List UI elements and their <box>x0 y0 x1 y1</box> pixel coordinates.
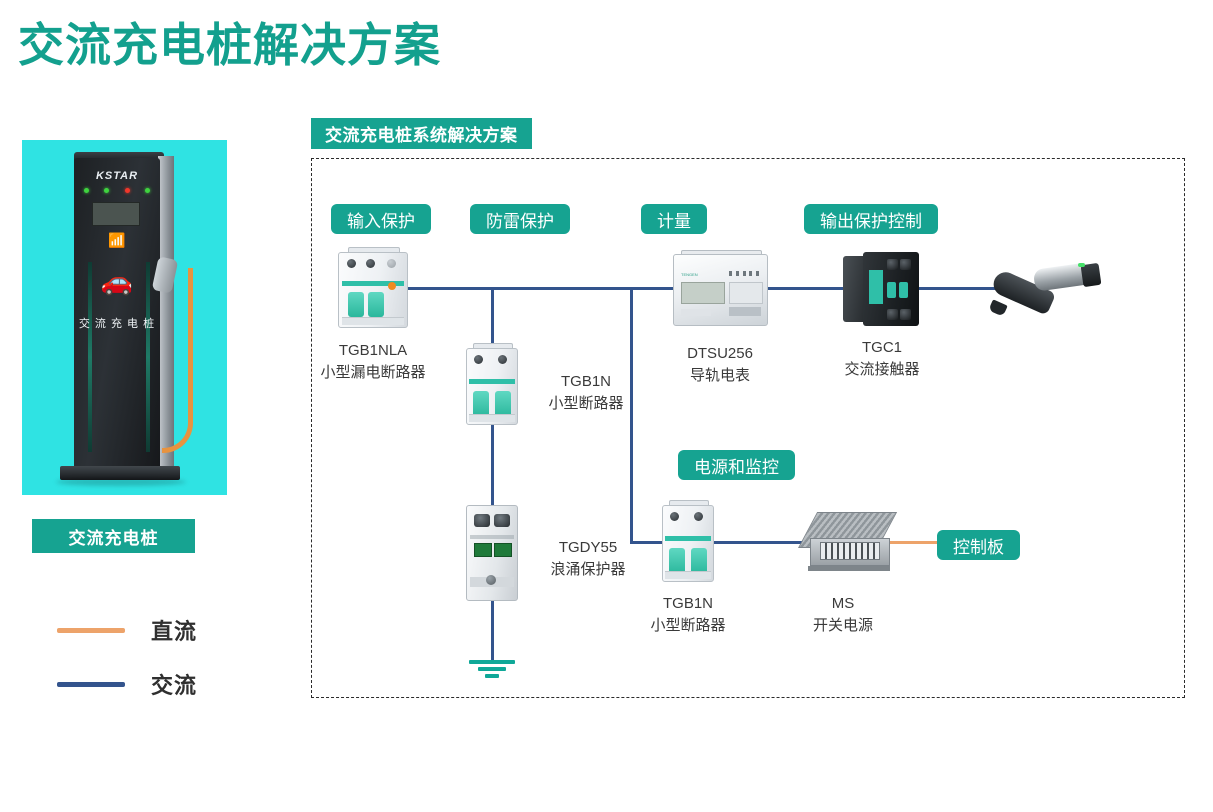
led-red <box>125 188 130 193</box>
spd-brand-strip <box>470 535 514 539</box>
wire-bus-to-mcb-upper <box>491 287 494 347</box>
wire-bus-to-lower-branch <box>630 287 633 542</box>
label-psu: MS 开关电源 <box>787 593 899 637</box>
label-mcb-upper: TGB1N 小型断路器 <box>531 371 641 415</box>
device-mcb-lower-tgb1n <box>662 505 714 582</box>
label-contactor-model: TGC1 <box>826 337 938 359</box>
legend-item-dc: 直流 <box>57 614 197 646</box>
ground-symbol-icon <box>468 660 516 682</box>
pill-metering: 计量 <box>641 204 707 234</box>
gun-status-led <box>1078 263 1085 267</box>
mcb-upper-teal-band <box>469 379 515 384</box>
rcbo-terminal-screw-1 <box>347 259 356 268</box>
meter-lcd-display <box>681 282 725 304</box>
wire-rcbo-to-meter <box>406 287 674 290</box>
led-green-2 <box>104 188 109 193</box>
label-rcbo-desc: 小型漏电断路器 <box>309 362 437 384</box>
mcb-lower-bottom-terminals <box>665 571 711 579</box>
device-psu-ms <box>798 512 890 574</box>
rfid-icon: 📶 <box>74 232 160 249</box>
pile-display-screen <box>92 202 140 226</box>
label-mcb-lower: TGB1N 小型断路器 <box>632 593 744 637</box>
ground-bar-2 <box>478 667 506 671</box>
meter-led-3 <box>743 271 746 276</box>
pill-output-protection: 输出保护控制 <box>804 204 938 234</box>
label-meter-model: DTSU256 <box>664 343 776 365</box>
psu-base-plate <box>808 566 890 571</box>
mcb-upper-terminal-screw-2 <box>498 355 507 364</box>
charging-gun-icon <box>990 258 1100 324</box>
rcbo-bottom-terminals <box>342 317 404 325</box>
device-contactor-tgc1 <box>843 252 919 326</box>
spd-cartridge-2 <box>494 514 510 527</box>
wire-spd-to-ground <box>491 600 494 662</box>
pill-input-protection: 输入保护 <box>331 204 431 234</box>
meter-led-5 <box>756 271 759 276</box>
gun-tip <box>988 299 1007 316</box>
label-spd: TGDY55 浪涌保护器 <box>532 537 644 581</box>
device-meter-dtsu256: TENGEN <box>673 254 768 326</box>
spd-screw <box>486 575 496 585</box>
ev-car-plug-icon: 🚗 <box>82 268 152 294</box>
pile-status-leds <box>84 188 150 193</box>
page-title: 交流充电桩解决方案 <box>18 18 441 73</box>
meter-spec-table <box>729 282 763 304</box>
pile-shadow <box>56 478 186 486</box>
pill-power-monitoring: 电源和监控 <box>678 450 795 480</box>
contactor-terminal-b2 <box>900 309 911 320</box>
meter-led-2 <box>736 271 739 276</box>
contactor-terminal-t2 <box>900 259 911 270</box>
wire-mcb-upper-to-spd <box>491 425 494 507</box>
label-mcb-lower-model: TGB1N <box>632 593 744 615</box>
section-header-badge: 交流充电桩系统解决方案 <box>311 118 532 149</box>
device-rcbo-tgb1nla <box>338 252 408 328</box>
spd-status-window-2 <box>494 543 512 557</box>
legend-label-ac: 交流 <box>151 668 197 700</box>
rcbo-test-screw <box>387 259 396 268</box>
meter-led-4 <box>749 271 752 276</box>
ground-bar-1 <box>469 660 515 664</box>
rcbo-lever-2 <box>368 292 384 318</box>
spd-cartridge-1 <box>474 514 490 527</box>
meter-label-strip <box>681 309 711 316</box>
legend-item-ac: 交流 <box>57 668 197 700</box>
diagram-frame <box>311 158 1185 698</box>
label-contactor-desc: 交流接触器 <box>826 359 938 381</box>
meter-brand-label: TENGEN <box>681 272 698 277</box>
product-caption: 交流充电桩 <box>32 519 195 553</box>
label-rcbo-model: TGB1NLA <box>309 340 437 362</box>
psu-terminal-block <box>820 542 880 560</box>
label-mcb-lower-desc: 小型断路器 <box>632 615 744 637</box>
wire-psu-to-control-board <box>884 541 942 544</box>
rcbo-terminal-screw-2 <box>366 259 375 268</box>
contactor-teal-label <box>869 270 883 304</box>
mcb-lower-terminal-screw-2 <box>694 512 703 521</box>
meter-terminal-block <box>729 307 761 316</box>
legend-swatch-dc-icon <box>57 628 125 633</box>
label-spd-model: TGDY55 <box>532 537 644 559</box>
wire-mcb-lower-to-psu <box>712 541 804 544</box>
label-meter: DTSU256 导轨电表 <box>664 343 776 387</box>
pile-vertical-text: 交 流 充 电 桩 <box>74 316 160 333</box>
label-spd-desc: 浪涌保护器 <box>532 559 644 581</box>
spd-status-window-1 <box>474 543 492 557</box>
meter-led-1 <box>729 271 732 276</box>
ground-bar-3 <box>485 674 499 678</box>
mcb-lower-teal-band <box>665 536 711 541</box>
contactor-indicator-2 <box>899 282 908 298</box>
wire-meter-to-contactor <box>762 287 854 290</box>
label-contactor: TGC1 交流接触器 <box>826 337 938 381</box>
meter-indicator-leds <box>729 271 759 276</box>
contactor-terminal-t1 <box>887 259 898 270</box>
label-psu-model: MS <box>787 593 899 615</box>
label-meter-desc: 导轨电表 <box>664 365 776 387</box>
rcbo-lever-1 <box>348 292 364 318</box>
device-spd-tgdy55 <box>466 505 518 601</box>
wire-contactor-to-gun <box>908 287 1000 290</box>
pile-brand-label: KSTAR <box>74 170 160 182</box>
mcb-upper-bottom-terminals <box>469 414 515 422</box>
product-photo: KSTAR 📶 🚗 交 流 充 电 桩 <box>22 140 227 495</box>
mcb-lower-terminal-screw-1 <box>670 512 679 521</box>
led-green-1 <box>84 188 89 193</box>
legend-label-dc: 直流 <box>151 614 197 646</box>
label-mcb-upper-desc: 小型断路器 <box>531 393 641 415</box>
contactor-terminal-b1 <box>887 309 898 320</box>
contactor-indicator-1 <box>887 282 896 298</box>
label-mcb-upper-model: TGB1N <box>531 371 641 393</box>
label-rcbo: TGB1NLA 小型漏电断路器 <box>309 340 437 384</box>
label-psu-desc: 开关电源 <box>787 615 899 637</box>
device-mcb-upper-tgb1n <box>466 348 518 425</box>
legend-swatch-ac-icon <box>57 682 125 687</box>
charging-cable <box>162 268 193 453</box>
pill-surge-protection: 防雷保护 <box>470 204 570 234</box>
pill-control-board: 控制板 <box>937 530 1020 560</box>
led-green-3 <box>145 188 150 193</box>
mcb-upper-terminal-screw-1 <box>474 355 483 364</box>
